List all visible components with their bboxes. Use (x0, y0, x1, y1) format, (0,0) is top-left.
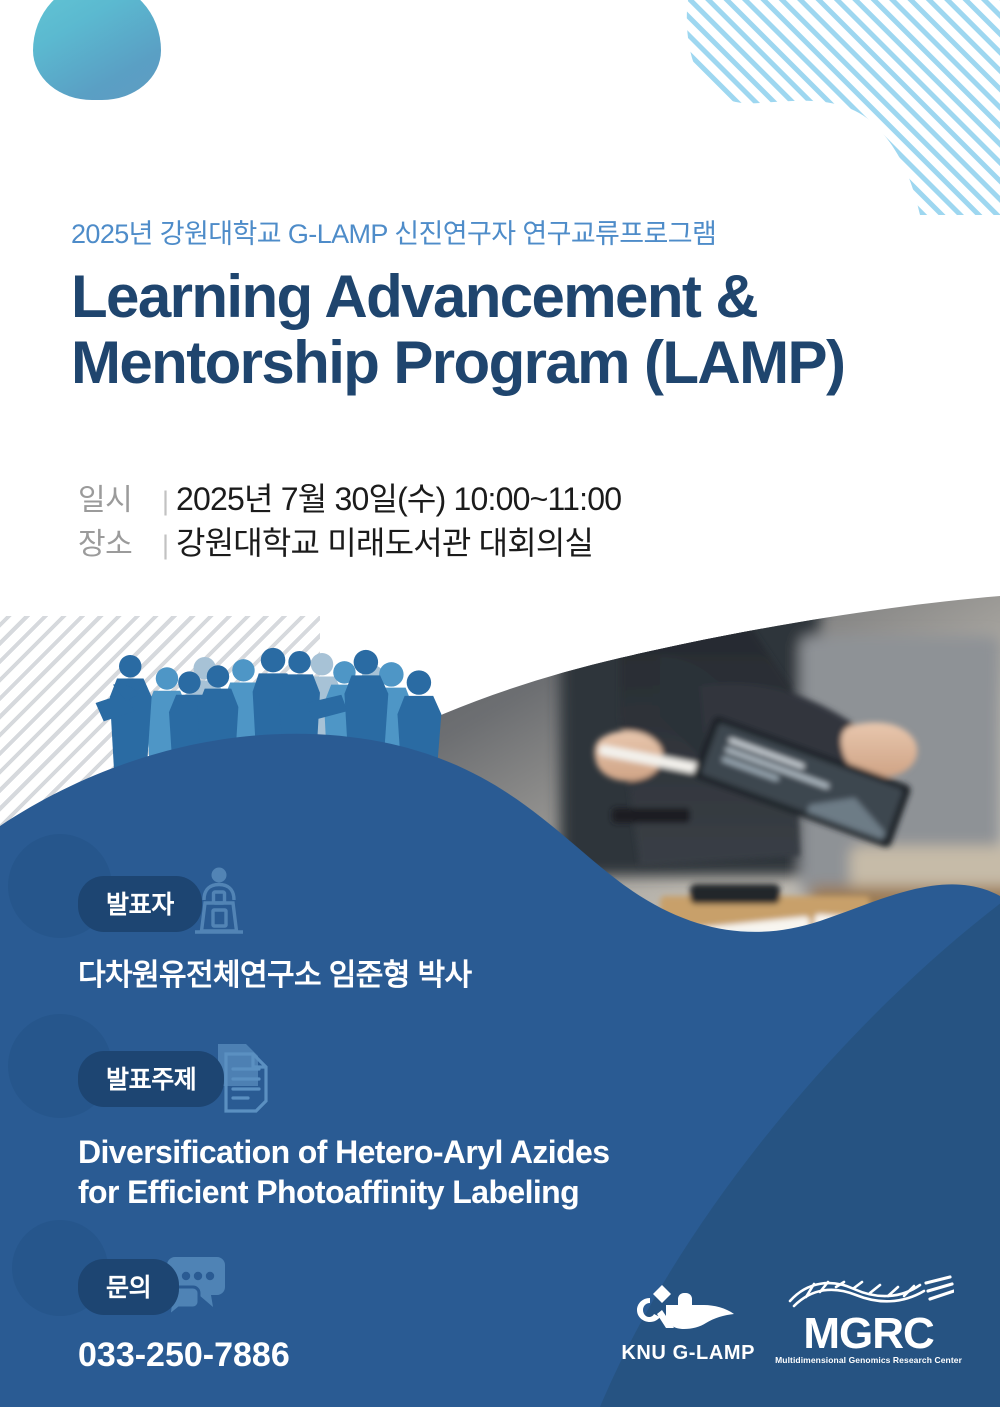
topic-badge: 발표주제 (78, 1051, 224, 1107)
logo-group: KNU G-LAMP (621, 1275, 962, 1365)
poster-header: 2025년 강원대학교 G-LAMP 신진연구자 연구교류프로그램 Learni… (71, 218, 971, 396)
mgrc-tagline: Multidimensional Genomics Research Cente… (775, 1355, 962, 1365)
topic-title: Diversification of Hetero-Aryl Azides fo… (78, 1132, 609, 1213)
presenter-name: 다차원유전체연구소 임준형 박사 (78, 958, 471, 994)
topic-line-1: Diversification of Hetero-Aryl Azides (78, 1132, 609, 1172)
knu-glamp-label: KNU G-LAMP (621, 1342, 755, 1365)
contact-badge: 문의 (78, 1259, 179, 1315)
presenter-block: 발표자 다차원유전체연구소 임준형 박사 (78, 862, 471, 994)
date-separator: | (162, 483, 176, 520)
program-eyebrow: 2025년 강원대학교 G-LAMP 신진연구자 연구교류프로그램 (71, 218, 971, 250)
mgrc-logo: MGRC Multidimensional Genomics Research … (775, 1275, 962, 1365)
topic-block: 발표주제 (78, 1038, 609, 1213)
knu-glamp-logo: KNU G-LAMP (621, 1280, 755, 1365)
place-label: 장소 (78, 524, 162, 565)
contact-phone: 033-250-7886 (78, 1335, 290, 1376)
oil-lamp-icon (632, 1280, 744, 1339)
topic-badge-row: 발표주제 (78, 1038, 609, 1119)
poster-root: 2025년 강원대학교 G-LAMP 신진연구자 연구교류프로그램 Learni… (0, 0, 1000, 1407)
date-label: 일시 (78, 480, 162, 521)
contact-block: 문의 033-250-7886 (78, 1251, 290, 1376)
event-info: 일시 | 2025년 7월 30일(수) 10:00~11:00 장소 | 강원… (78, 477, 621, 566)
info-row-date: 일시 | 2025년 7월 30일(수) 10:00~11:00 (78, 477, 621, 521)
mgrc-wordmark: MGRC (803, 1314, 933, 1354)
date-value: 2025년 7월 30일(수) 10:00~11:00 (176, 477, 621, 521)
title-line-1: Learning Advancement & (71, 264, 971, 330)
page-title: Learning Advancement & Mentorship Progra… (71, 264, 971, 396)
diagonal-stripes-blue-top (650, 0, 1000, 215)
title-line-2: Mentorship Program (LAMP) (71, 330, 971, 396)
place-value: 강원대학교 미래도서관 대회의실 (176, 521, 593, 565)
topic-line-2: for Efficient Photoaffinity Labeling (78, 1172, 609, 1212)
poster-content: 발표자 다차원유전체연구소 임준형 박사 (0, 596, 1000, 1407)
contact-badge-row: 문의 (78, 1251, 290, 1322)
info-row-place: 장소 | 강원대학교 미래도서관 대회의실 (78, 521, 621, 565)
presenter-badge: 발표자 (78, 876, 202, 932)
place-separator: | (162, 527, 176, 564)
presenter-badge-row: 발표자 (78, 862, 471, 945)
teal-gradient-blob (33, 0, 161, 100)
